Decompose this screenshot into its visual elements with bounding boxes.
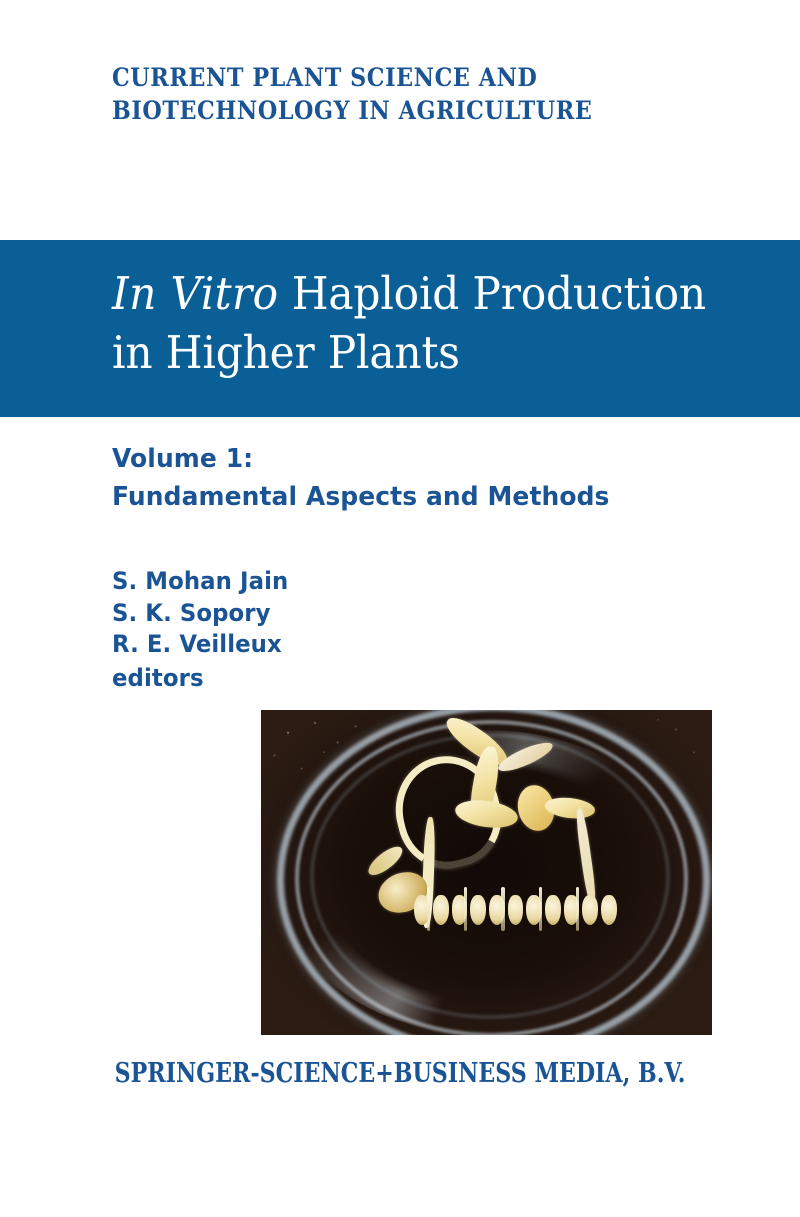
volume-subtitle: Fundamental Aspects and Methods [112,478,610,516]
book-title-line-1: In Vitro Haploid Production [112,264,732,323]
embryo-tick-4 [539,887,542,931]
embryo-tick-1 [427,887,430,931]
book-title-line-2: in Higher Plants [112,323,732,382]
embryo-row [414,895,621,924]
editor-name-2: S. K. Sopory [112,598,288,630]
title-band: In Vitro Haploid Production in Higher Pl… [0,240,800,417]
embryo-10 [582,895,598,924]
book-title: In Vitro Haploid Production in Higher Pl… [112,264,772,382]
embryo-2 [433,895,449,924]
editors-block: S. Mohan Jain S. K. Sopory R. E. Veilleu… [112,566,298,694]
publisher-label: SPRINGER-SCIENCE+BUSINESS MEDIA, B.V. [115,1058,686,1089]
embryo-8 [545,895,561,924]
volume-block: Volume 1: Fundamental Aspects and Method… [112,440,630,516]
book-cover: CURRENT PLANT SCIENCE AND BIOTECHNOLOGY … [0,0,800,1217]
embryo-tick-2 [464,887,467,931]
editors-role-label: editors [112,663,288,695]
volume-number: Volume 1: [112,440,610,478]
series-title-line-2: BIOTECHNOLOGY IN AGRICULTURE [112,95,713,128]
book-title-italic: In Vitro [112,267,278,320]
embryo-6 [508,895,524,924]
series-title-line-1: CURRENT PLANT SCIENCE AND [112,62,713,95]
embryo-4 [470,895,486,924]
embryo-tick-5 [576,887,579,931]
embryo-11 [601,895,617,924]
publisher-name: SPRINGER-SCIENCE+BUSINESS MEDIA, B.V. [0,1058,800,1089]
editor-name-1: S. Mohan Jain [112,566,288,598]
embryo-tick-3 [501,887,504,931]
book-title-rest: Haploid Production [292,267,706,320]
cover-photo [261,710,712,1035]
editor-name-3: R. E. Veilleux [112,629,288,661]
series-title: CURRENT PLANT SCIENCE AND BIOTECHNOLOGY … [112,62,732,128]
